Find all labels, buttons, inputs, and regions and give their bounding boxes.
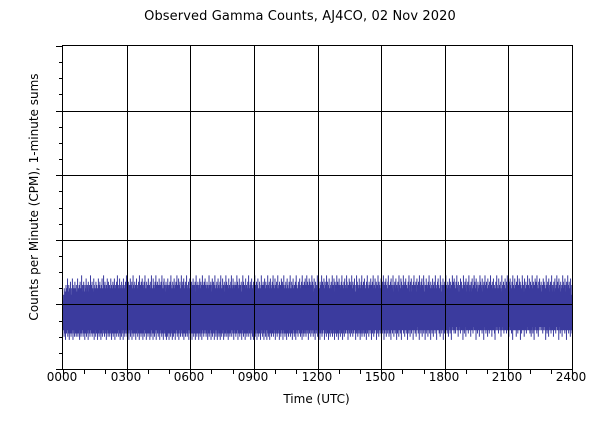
- gridline-vertical: [127, 46, 128, 369]
- gridline-vertical: [508, 46, 509, 369]
- plot-area: [62, 45, 573, 370]
- x-axis-title: Time (UTC): [62, 392, 571, 406]
- x-tick-label: 1500: [355, 371, 405, 383]
- y-tick-minor: [59, 256, 63, 257]
- gridline-vertical: [381, 46, 382, 369]
- y-tick-minor: [59, 94, 63, 95]
- y-tick-major: [56, 111, 63, 112]
- y-axis-title: Counts per Minute (CPM), 1-minute sums: [27, 32, 41, 362]
- y-tick-minor: [59, 353, 63, 354]
- y-tick-minor: [59, 191, 63, 192]
- x-tick-label: 1200: [292, 371, 342, 383]
- y-tick-minor: [59, 272, 63, 273]
- y-tick-major: [56, 46, 63, 47]
- x-tick-label: 0300: [101, 371, 151, 383]
- y-tick-minor: [59, 127, 63, 128]
- gridline-vertical: [318, 46, 319, 369]
- y-tick-minor: [59, 143, 63, 144]
- gamma-counts-chart: Observed Gamma Counts, AJ4CO, 02 Nov 202…: [0, 0, 600, 428]
- x-tick-label: 2100: [482, 371, 532, 383]
- x-tick-label: 2400: [546, 371, 596, 383]
- x-tick-label: 0000: [37, 371, 87, 383]
- y-tick-major: [56, 240, 63, 241]
- plot-inner: [63, 46, 572, 369]
- gridline-vertical: [190, 46, 191, 369]
- gridline-vertical: [445, 46, 446, 369]
- y-tick-minor: [59, 224, 63, 225]
- x-tick-label: 0600: [164, 371, 214, 383]
- x-tick-label: 0900: [228, 371, 278, 383]
- y-tick-minor: [59, 321, 63, 322]
- y-tick-minor: [59, 62, 63, 63]
- gridline-vertical: [254, 46, 255, 369]
- x-tick-label: 1800: [419, 371, 469, 383]
- y-tick-major: [56, 304, 63, 305]
- y-tick-minor: [59, 78, 63, 79]
- y-tick-minor: [59, 159, 63, 160]
- y-tick-minor: [59, 337, 63, 338]
- chart-title: Observed Gamma Counts, AJ4CO, 02 Nov 202…: [0, 9, 600, 24]
- y-tick-minor: [59, 288, 63, 289]
- y-tick-major: [56, 175, 63, 176]
- y-tick-minor: [59, 208, 63, 209]
